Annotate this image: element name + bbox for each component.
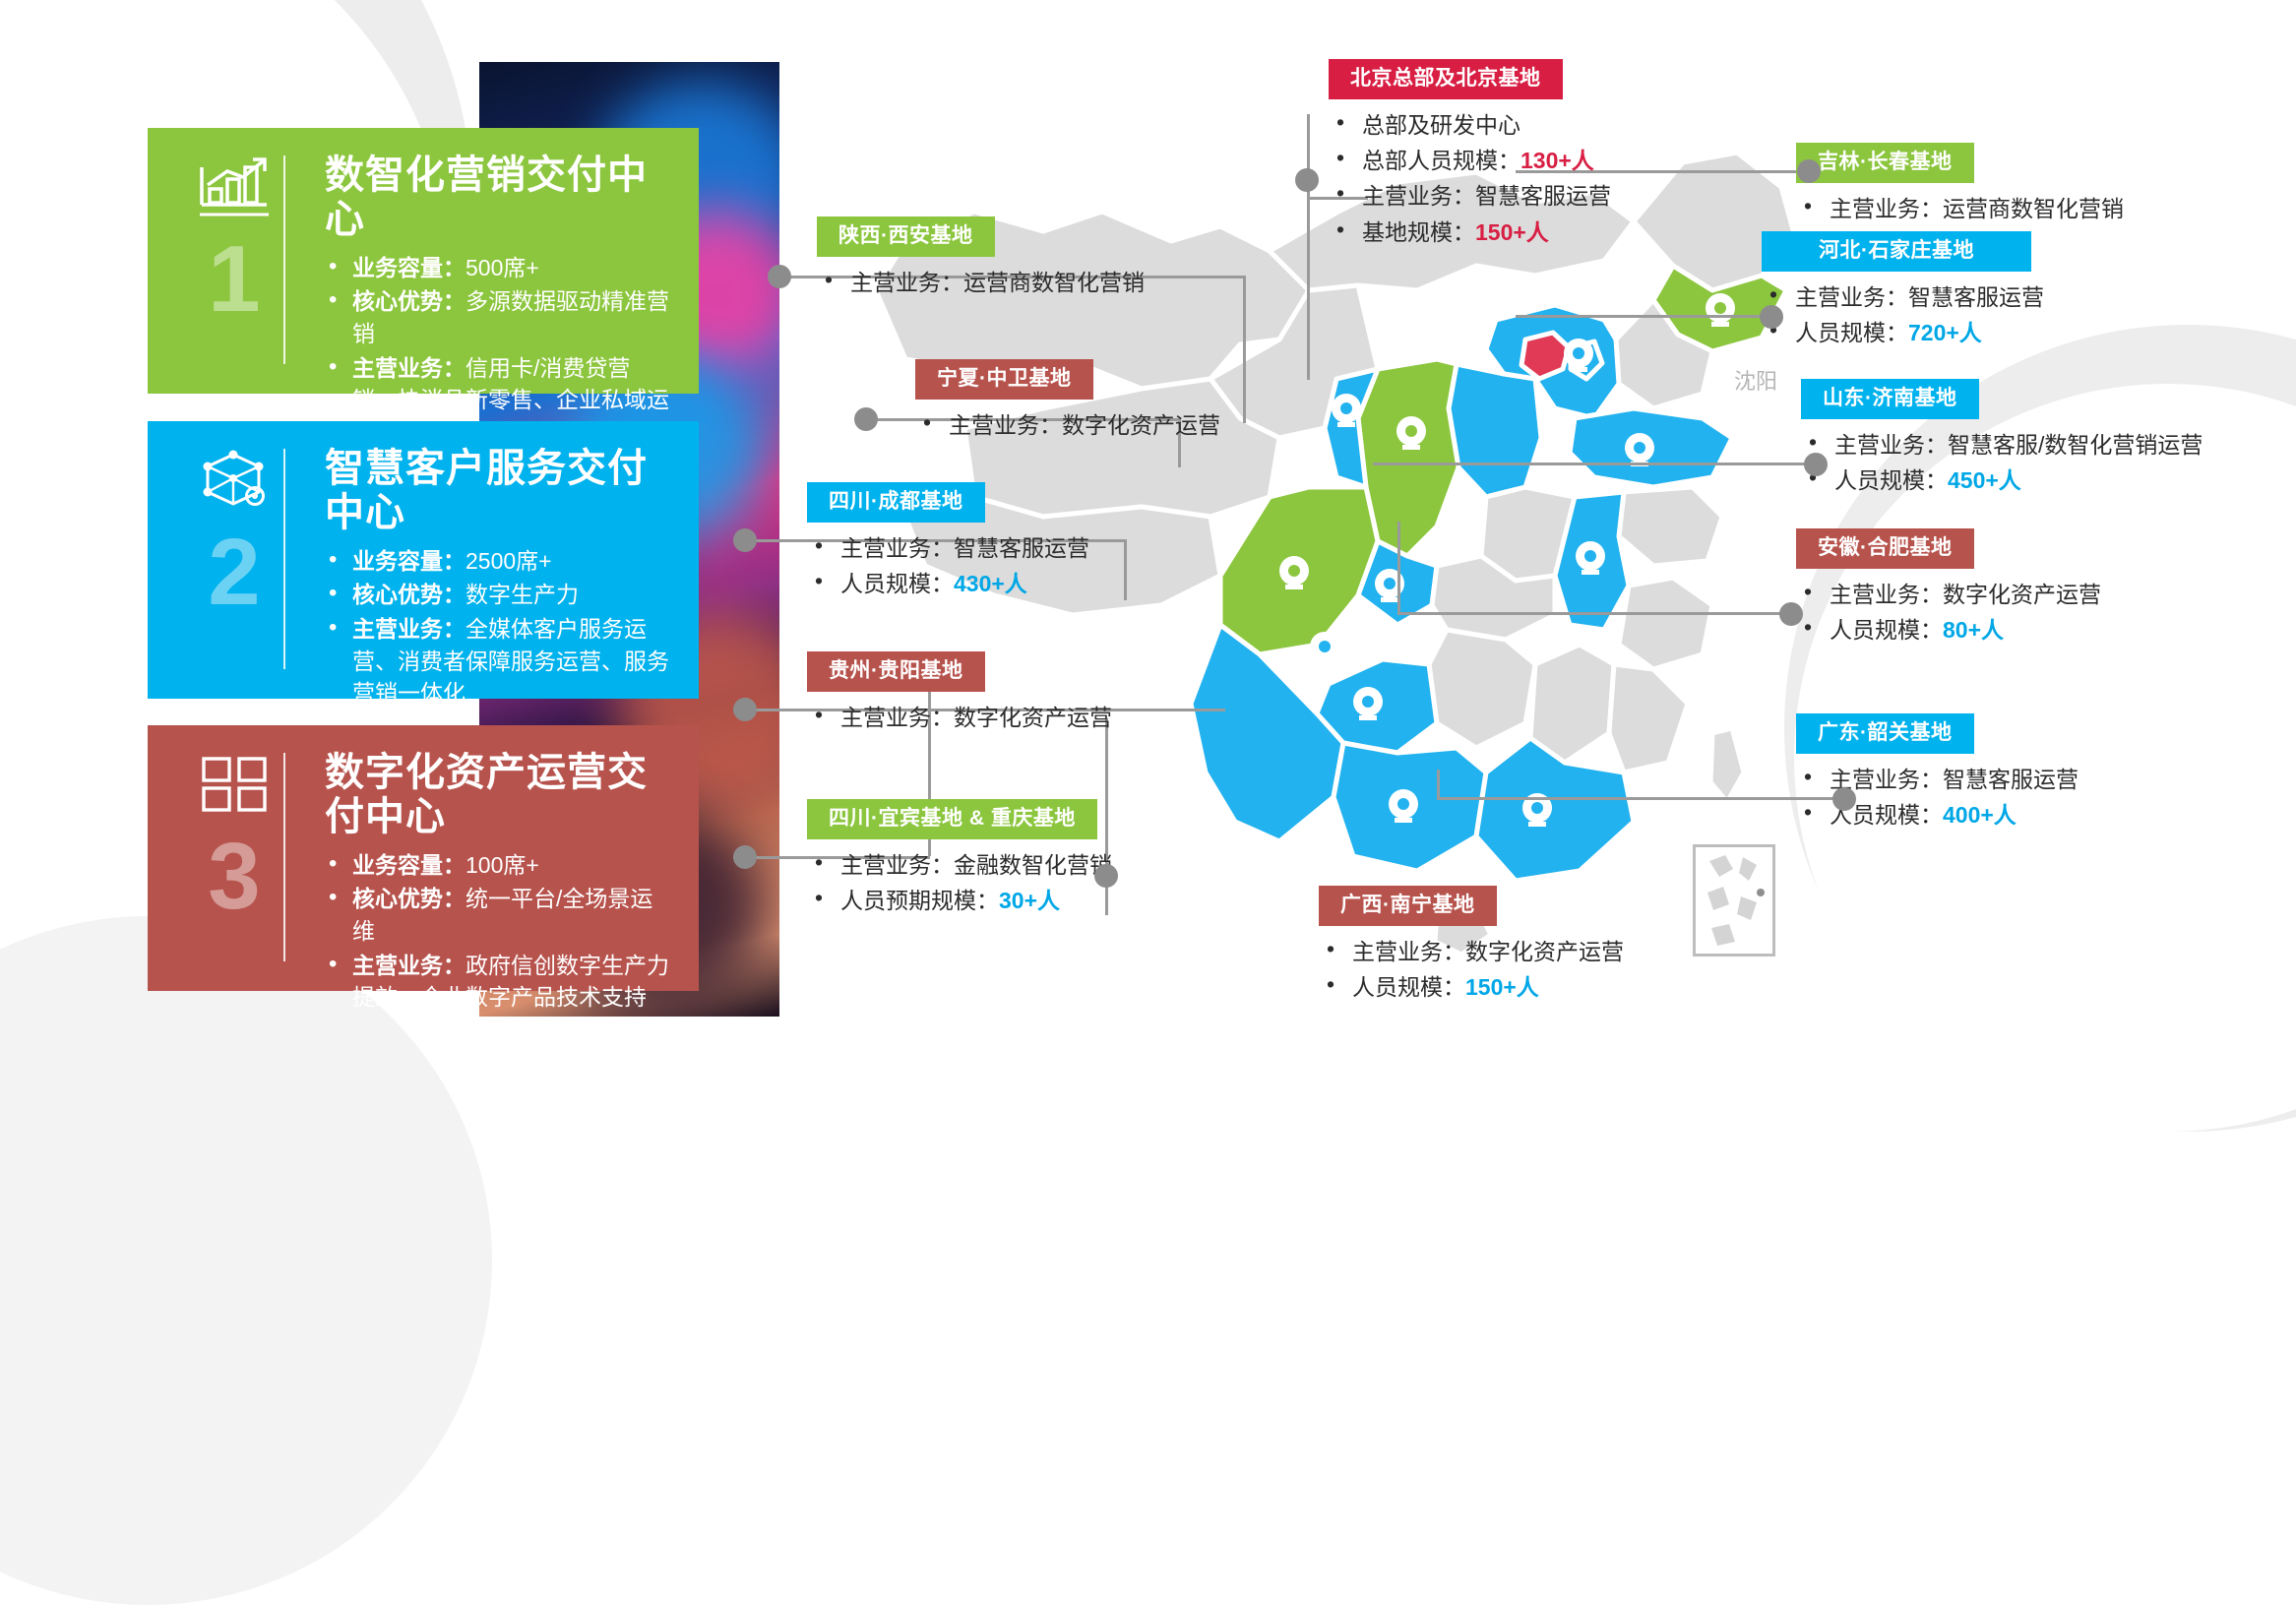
- card-1-list: 业务容量：500席+ 核心优势：多源数据驱动精准营销 主营业务：信用卡/消费贷营…: [325, 252, 673, 449]
- callout-guangdong[interactable]: 广东·韶关基地 主营业务：智慧客服运营 人员规模：400+人: [1796, 713, 2141, 833]
- callout-chengdu-list: 主营业务：智慧客服运营 人员规模：430+人: [807, 530, 1151, 602]
- callout-beijing-list: 总部及研发中心 总部人员规模：130+人 主营业务：智慧客服运营 基地规模：15…: [1329, 107, 1742, 250]
- callout-dot-hebei: [1760, 305, 1783, 329]
- callout-beijing[interactable]: 北京总部及北京基地 总部及研发中心 总部人员规模：130+人 主营业务：智慧客服…: [1329, 59, 1742, 250]
- list-item: 业务容量：100席+: [325, 849, 673, 882]
- callout-dot-jilin: [1797, 159, 1821, 183]
- card-2-list: 业务容量：2500席+ 核心优势：数字生产力 主营业务：全媒体客户服务运营、消费…: [325, 545, 673, 710]
- callout-ningxia-list: 主营业务：数字化资产运营: [915, 407, 1348, 443]
- callout-anhui[interactable]: 安徽·合肥基地 主营业务：数字化资产运营 人员规模：80+人: [1796, 528, 2229, 648]
- card-2-title: 智慧客户服务交付中心: [325, 447, 673, 535]
- callout-shandong-badge: 山东·济南基地: [1801, 379, 1979, 419]
- list-item: 主营业务：智慧客服运营: [1762, 279, 2195, 315]
- card-3-title: 数字化资产运营交付中心: [325, 751, 673, 839]
- callout-yibin-badge: 四川·宜宾基地 & 重庆基地: [807, 799, 1097, 839]
- background-arc-bottom: [0, 916, 492, 1605]
- callout-dot-shaanxi: [768, 265, 791, 288]
- card-2-body: 智慧客户服务交付中心 业务容量：2500席+ 核心优势：数字生产力 主营业务：全…: [295, 443, 673, 675]
- callout-sichuan-yibin[interactable]: 四川·宜宾基地 & 重庆基地 主营业务：金融数智化营销 人员预期规模：30+人: [807, 799, 1171, 918]
- callout-dot-guangdong: [1832, 787, 1856, 811]
- callout-guangxi[interactable]: 广西·南宁基地 主营业务：数字化资产运营 人员规模：150+人: [1319, 886, 1752, 1005]
- list-item: 基地规模：150+人: [1329, 215, 1742, 250]
- card-2-number: 2: [208, 525, 260, 620]
- map-city-label-shenyang: 沈阳: [1734, 369, 1777, 394]
- list-item: 人员规模：150+人: [1319, 969, 1752, 1005]
- card-3-list: 业务容量：100席+ 核心优势：统一平台/全场景运维 主营业务：政府信创数字生产…: [325, 849, 673, 1014]
- callout-guizhou-list: 主营业务：数字化资产运营: [807, 700, 1240, 735]
- callout-dot-shandong: [1804, 453, 1828, 476]
- callout-dot-beijing: [1295, 168, 1319, 192]
- callout-sichuan-chengdu[interactable]: 四川·成都基地 主营业务：智慧客服运营 人员规模：430+人: [807, 482, 1151, 601]
- callout-guizhou-badge: 贵州·贵阳基地: [807, 651, 985, 692]
- list-item: 主营业务：运营商数智化营销: [1796, 191, 2229, 226]
- callout-ningxia[interactable]: 宁夏·中卫基地 主营业务：数字化资产运营: [915, 359, 1348, 443]
- card-1-number: 1: [208, 232, 260, 327]
- callout-hebei-list: 主营业务：智慧客服运营 人员规模：720+人: [1762, 279, 2195, 351]
- delivery-center-card-1[interactable]: 1 数智化营销交付中心 业务容量：500席+ 核心优势：多源数据驱动精准营销 主…: [148, 128, 699, 394]
- delivery-center-card-3[interactable]: 3 数字化资产运营交付中心 业务容量：100席+ 核心优势：统一平台/全场景运维…: [148, 725, 699, 991]
- list-item: 业务容量：2500席+: [325, 545, 673, 578]
- callout-dot-anhui: [1779, 602, 1803, 626]
- list-item: 核心优势：多源数据驱动精准营销: [325, 285, 673, 349]
- callout-guangdong-badge: 广东·韶关基地: [1796, 713, 1974, 754]
- callout-ningxia-badge: 宁夏·中卫基地: [915, 359, 1093, 400]
- list-item: 核心优势：统一平台/全场景运维: [325, 883, 673, 947]
- callout-guangxi-badge: 广西·南宁基地: [1319, 886, 1497, 926]
- list-item: 核心优势：数字生产力: [325, 579, 673, 611]
- leader-guangdong-v: [1437, 770, 1440, 799]
- list-item: 主营业务：数字化资产运营: [807, 700, 1240, 735]
- list-item: 主营业务：全媒体客户服务运营、消费者保障服务运营、服务营销一体化: [325, 613, 673, 710]
- callout-dot-chengdu: [733, 528, 757, 552]
- callout-shandong[interactable]: 山东·济南基地 主营业务：智慧客服/数智化营销运营 人员规模：450+人: [1801, 379, 2254, 498]
- leader-hebei: [1516, 315, 1773, 318]
- callout-yibin-list: 主营业务：金融数智化营销 人员预期规模：30+人: [807, 847, 1171, 919]
- card-1-title: 数智化营销交付中心: [325, 154, 673, 242]
- list-item: 总部及研发中心: [1329, 107, 1742, 143]
- cube-network-gear-icon: [198, 449, 271, 512]
- callout-dot-yibin: [733, 845, 757, 869]
- list-item: 人员规模：80+人: [1796, 612, 2229, 648]
- list-item: 人员规模：720+人: [1762, 315, 2195, 350]
- list-item: 人员规模：430+人: [807, 566, 1151, 601]
- callout-guangxi-list: 主营业务：数字化资产运营 人员规模：150+人: [1319, 934, 1752, 1006]
- card-3-left: 3: [173, 747, 295, 967]
- list-item: 主营业务：智慧客服/数智化营销运营: [1801, 427, 2254, 463]
- callout-dot-ningxia: [854, 407, 878, 431]
- list-item: 主营业务：数字化资产运营: [915, 407, 1348, 443]
- callout-jilin-badge: 吉林·长春基地: [1796, 143, 1974, 183]
- leader-anhui: [1397, 612, 1791, 615]
- callout-shandong-list: 主营业务：智慧客服/数智化营销运营 人员规模：450+人: [1801, 427, 2254, 499]
- card-3-divider: [283, 753, 285, 961]
- list-item: 业务容量：500席+: [325, 252, 673, 284]
- callout-anhui-badge: 安徽·合肥基地: [1796, 528, 1974, 569]
- delivery-center-card-2[interactable]: 2 智慧客户服务交付中心 业务容量：2500席+ 核心优势：数字生产力 主营业务…: [148, 421, 699, 699]
- callout-guizhou[interactable]: 贵州·贵阳基地 主营业务：数字化资产运营: [807, 651, 1240, 735]
- map-pin-yibin: [1310, 632, 1339, 665]
- callout-shaanxi[interactable]: 陕西·西安基地 主营业务：运营商数智化营销: [817, 216, 1279, 300]
- callout-hebei-badge: 河北·石家庄基地: [1762, 231, 2031, 272]
- list-item: 总部人员规模：130+人: [1329, 143, 1742, 178]
- card-1-left: 1: [173, 150, 295, 370]
- card-1-divider: [283, 155, 285, 364]
- callout-anhui-list: 主营业务：数字化资产运营 人员规模：80+人: [1796, 577, 2229, 648]
- four-squares-grid-icon: [198, 753, 271, 816]
- card-2-divider: [283, 449, 285, 669]
- card-3-number: 3: [208, 830, 260, 924]
- callout-shaanxi-list: 主营业务：运营商数智化营销: [817, 265, 1279, 300]
- list-item: 主营业务：政府信创数字生产力提效、企业数字产品技术支持: [325, 950, 673, 1014]
- list-item: 主营业务：智慧客服运营: [1329, 178, 1742, 214]
- card-2-left: 2: [173, 443, 295, 675]
- list-item: 主营业务：运营商数智化营销: [817, 265, 1279, 300]
- leader-guangdong: [1437, 797, 1840, 800]
- list-item: 主营业务：数字化资产运营: [1319, 934, 1752, 969]
- callout-dot-guangxi: [1094, 864, 1118, 888]
- list-item: 人员规模：450+人: [1801, 463, 2254, 498]
- leader-shandong: [1373, 463, 1816, 465]
- callout-beijing-badge: 北京总部及北京基地: [1329, 59, 1563, 99]
- leader-anhui-v: [1397, 522, 1400, 614]
- card-1-body: 数智化营销交付中心 业务容量：500席+ 核心优势：多源数据驱动精准营销 主营业…: [295, 150, 673, 370]
- card-3-body: 数字化资产运营交付中心 业务容量：100席+ 核心优势：统一平台/全场景运维 主…: [295, 747, 673, 967]
- list-item: 主营业务：数字化资产运营: [1796, 577, 2229, 612]
- callout-chengdu-badge: 四川·成都基地: [807, 482, 985, 523]
- callout-shaanxi-badge: 陕西·西安基地: [817, 216, 995, 257]
- list-item: 人员预期规模：30+人: [807, 883, 1171, 918]
- china-map-panel: 沈阳 北京总部及北京基地 总部及研发中心 总部人员规模：130+人 主营业务: [827, 39, 2283, 1063]
- callout-hebei[interactable]: 河北·石家庄基地 主营业务：智慧客服运营 人员规模：720+人: [1762, 231, 2195, 350]
- bar-chart-growth-icon: [198, 155, 271, 218]
- callout-dot-guizhou: [733, 698, 757, 721]
- leader-beijing-v: [1307, 114, 1310, 380]
- list-item: 主营业务：智慧客服运营: [807, 530, 1151, 566]
